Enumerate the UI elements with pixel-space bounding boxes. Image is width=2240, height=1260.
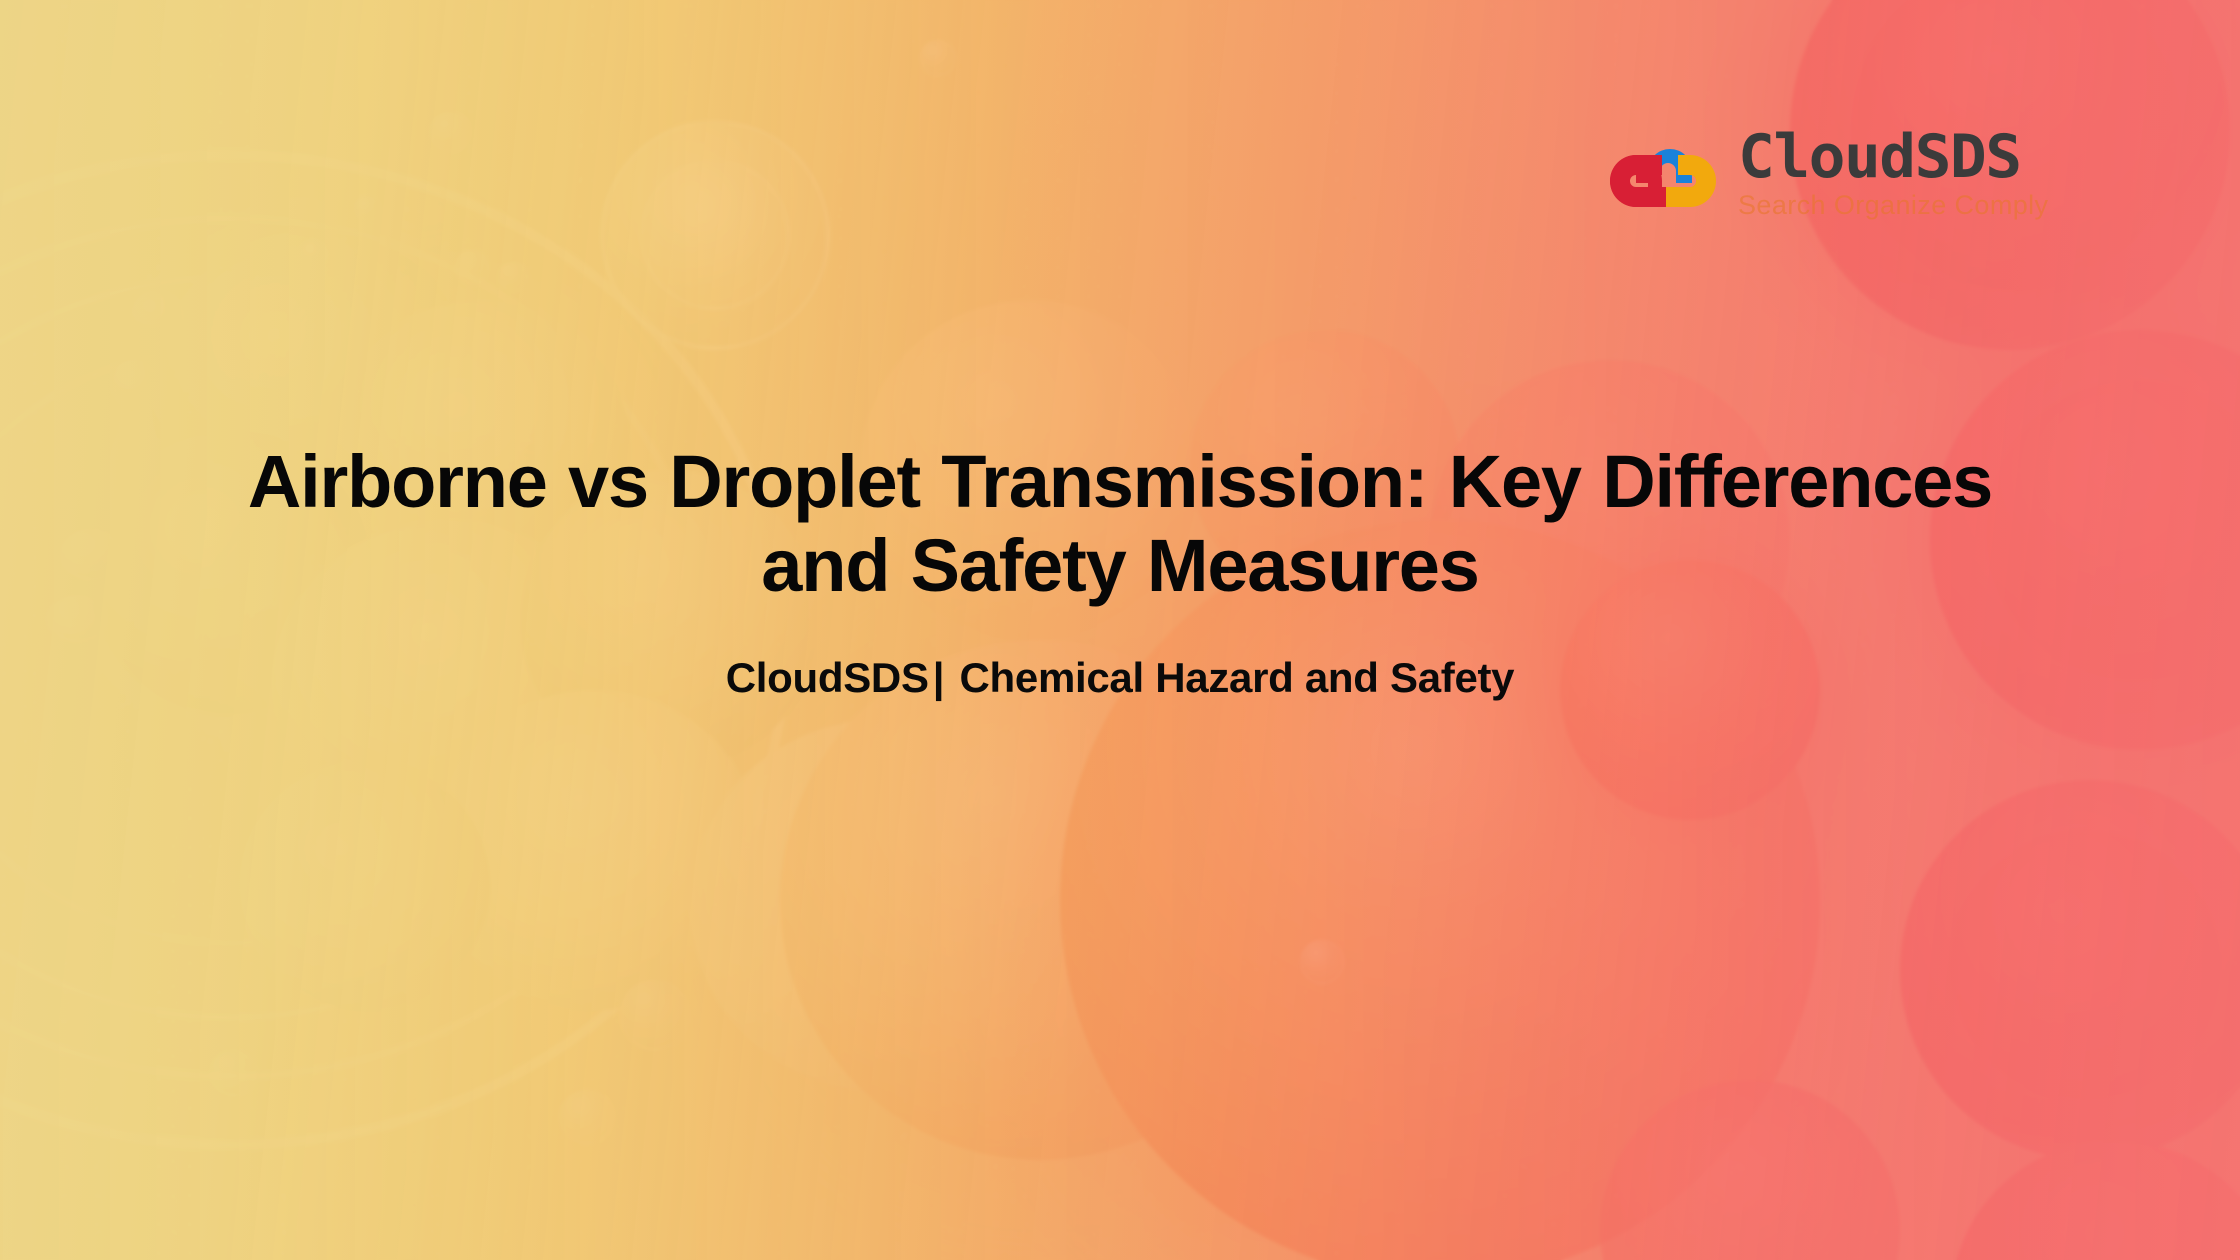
blog-hero-banner: CloudSDS Search Organize Comply Airborne… xyxy=(0,0,2240,1260)
hero-subtitle-brand: CloudSDS xyxy=(726,654,929,701)
brand-wordmark: CloudSDS xyxy=(1738,129,2055,186)
hero-subtitle-separator: | xyxy=(929,654,948,701)
page-title: Airborne vs Droplet Transmission: Key Di… xyxy=(215,440,2025,609)
brand-logo-text: CloudSDS Search Organize Comply xyxy=(1738,127,2048,219)
brand-tagline: Search Organize Comply xyxy=(1738,192,2048,219)
hero-subtitle: CloudSDS| Chemical Hazard and Safety xyxy=(120,653,2120,703)
hero-copy-block: Airborne vs Droplet Transmission: Key Di… xyxy=(0,440,2240,703)
brand-logo[interactable]: CloudSDS Search Organize Comply xyxy=(1604,118,2120,228)
cloudsds-cloud-logo-icon xyxy=(1604,127,1722,219)
hero-subtitle-category: Chemical Hazard and Safety xyxy=(960,654,1515,701)
